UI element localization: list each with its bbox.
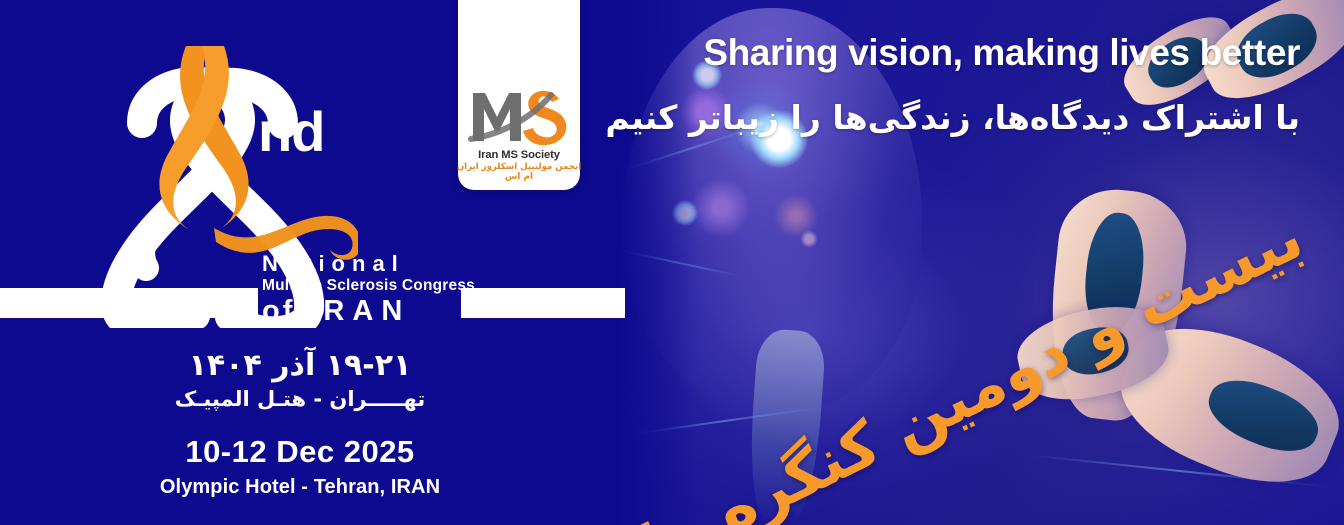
nerve-fiber [601,245,738,276]
nerve-fiber [1031,454,1330,487]
event-venue-english: Olympic Hotel - Tehran, IRAN [0,476,600,499]
congress-name-of: of [262,295,295,327]
white-divider-right [461,288,625,318]
headline-farsi: با اشتراک دیدگاه‌ها، زندگی‌ها را زیباتر … [605,98,1300,137]
congress-name-line-subject: Multiple Sclerosis Congress [262,276,475,295]
neural-spark-icon [800,230,818,248]
event-details: ۱۹-۲۱ آذر ۱۴۰۴ تهـــــران - هتـل المپیـک… [0,348,600,499]
event-date-english: 10-12 Dec 2025 [0,434,600,470]
congress-name-line-country: ofIRAN [262,296,475,326]
nerve-fiber [631,407,819,435]
congress-banner: Sharing vision, making lives better با ا… [0,0,1344,525]
ms-monogram-icon [467,83,571,147]
congress-name-line-national: National [262,252,475,275]
ms-society-name-farsi-line1: انجمن مولتیپل اسکلروز ایران [457,162,581,172]
headline-english: Sharing vision, making lives better [703,32,1300,74]
neural-spark-icon [672,200,698,226]
event-date-farsi: ۱۹-۲۱ آذر ۱۴۰۴ [0,348,600,383]
iran-ms-society-logo-card[interactable]: Iran MS Society انجمن مولتیپل اسکلروز ای… [458,0,580,190]
ms-society-name-english: Iran MS Society [478,149,560,161]
congress-name: National Multiple Sclerosis Congress ofI… [262,252,475,327]
congress-name-iran: IRAN [307,295,410,327]
ms-society-name-farsi-line2: ام اس [505,172,533,182]
white-divider-left [0,288,258,318]
edition-ordinal-suffix: nd [258,104,324,160]
left-brand-panel: nd National Multiple Sclerosis Congress … [0,0,620,525]
event-venue-farsi: تهـــــران - هتـل المپیـک [0,385,600,413]
